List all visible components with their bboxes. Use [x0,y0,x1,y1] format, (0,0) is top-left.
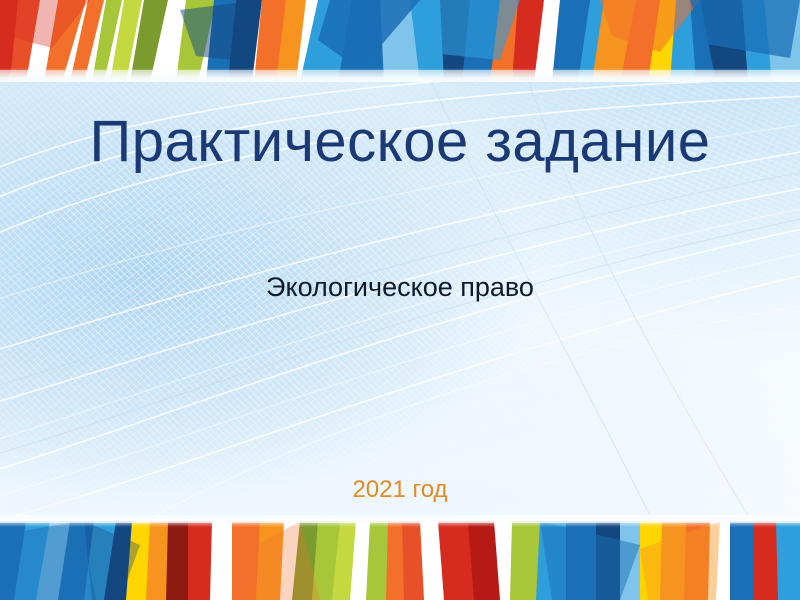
slide-title: Практическое задание [0,112,800,173]
presentation-slide: Практическое задание Экологическое право… [0,0,800,600]
bottom-decorative-band [0,515,800,600]
top-decorative-band [0,0,800,82]
slide-year: 2021 год [0,476,800,504]
slide-subtitle: Экологическое право [0,272,800,303]
